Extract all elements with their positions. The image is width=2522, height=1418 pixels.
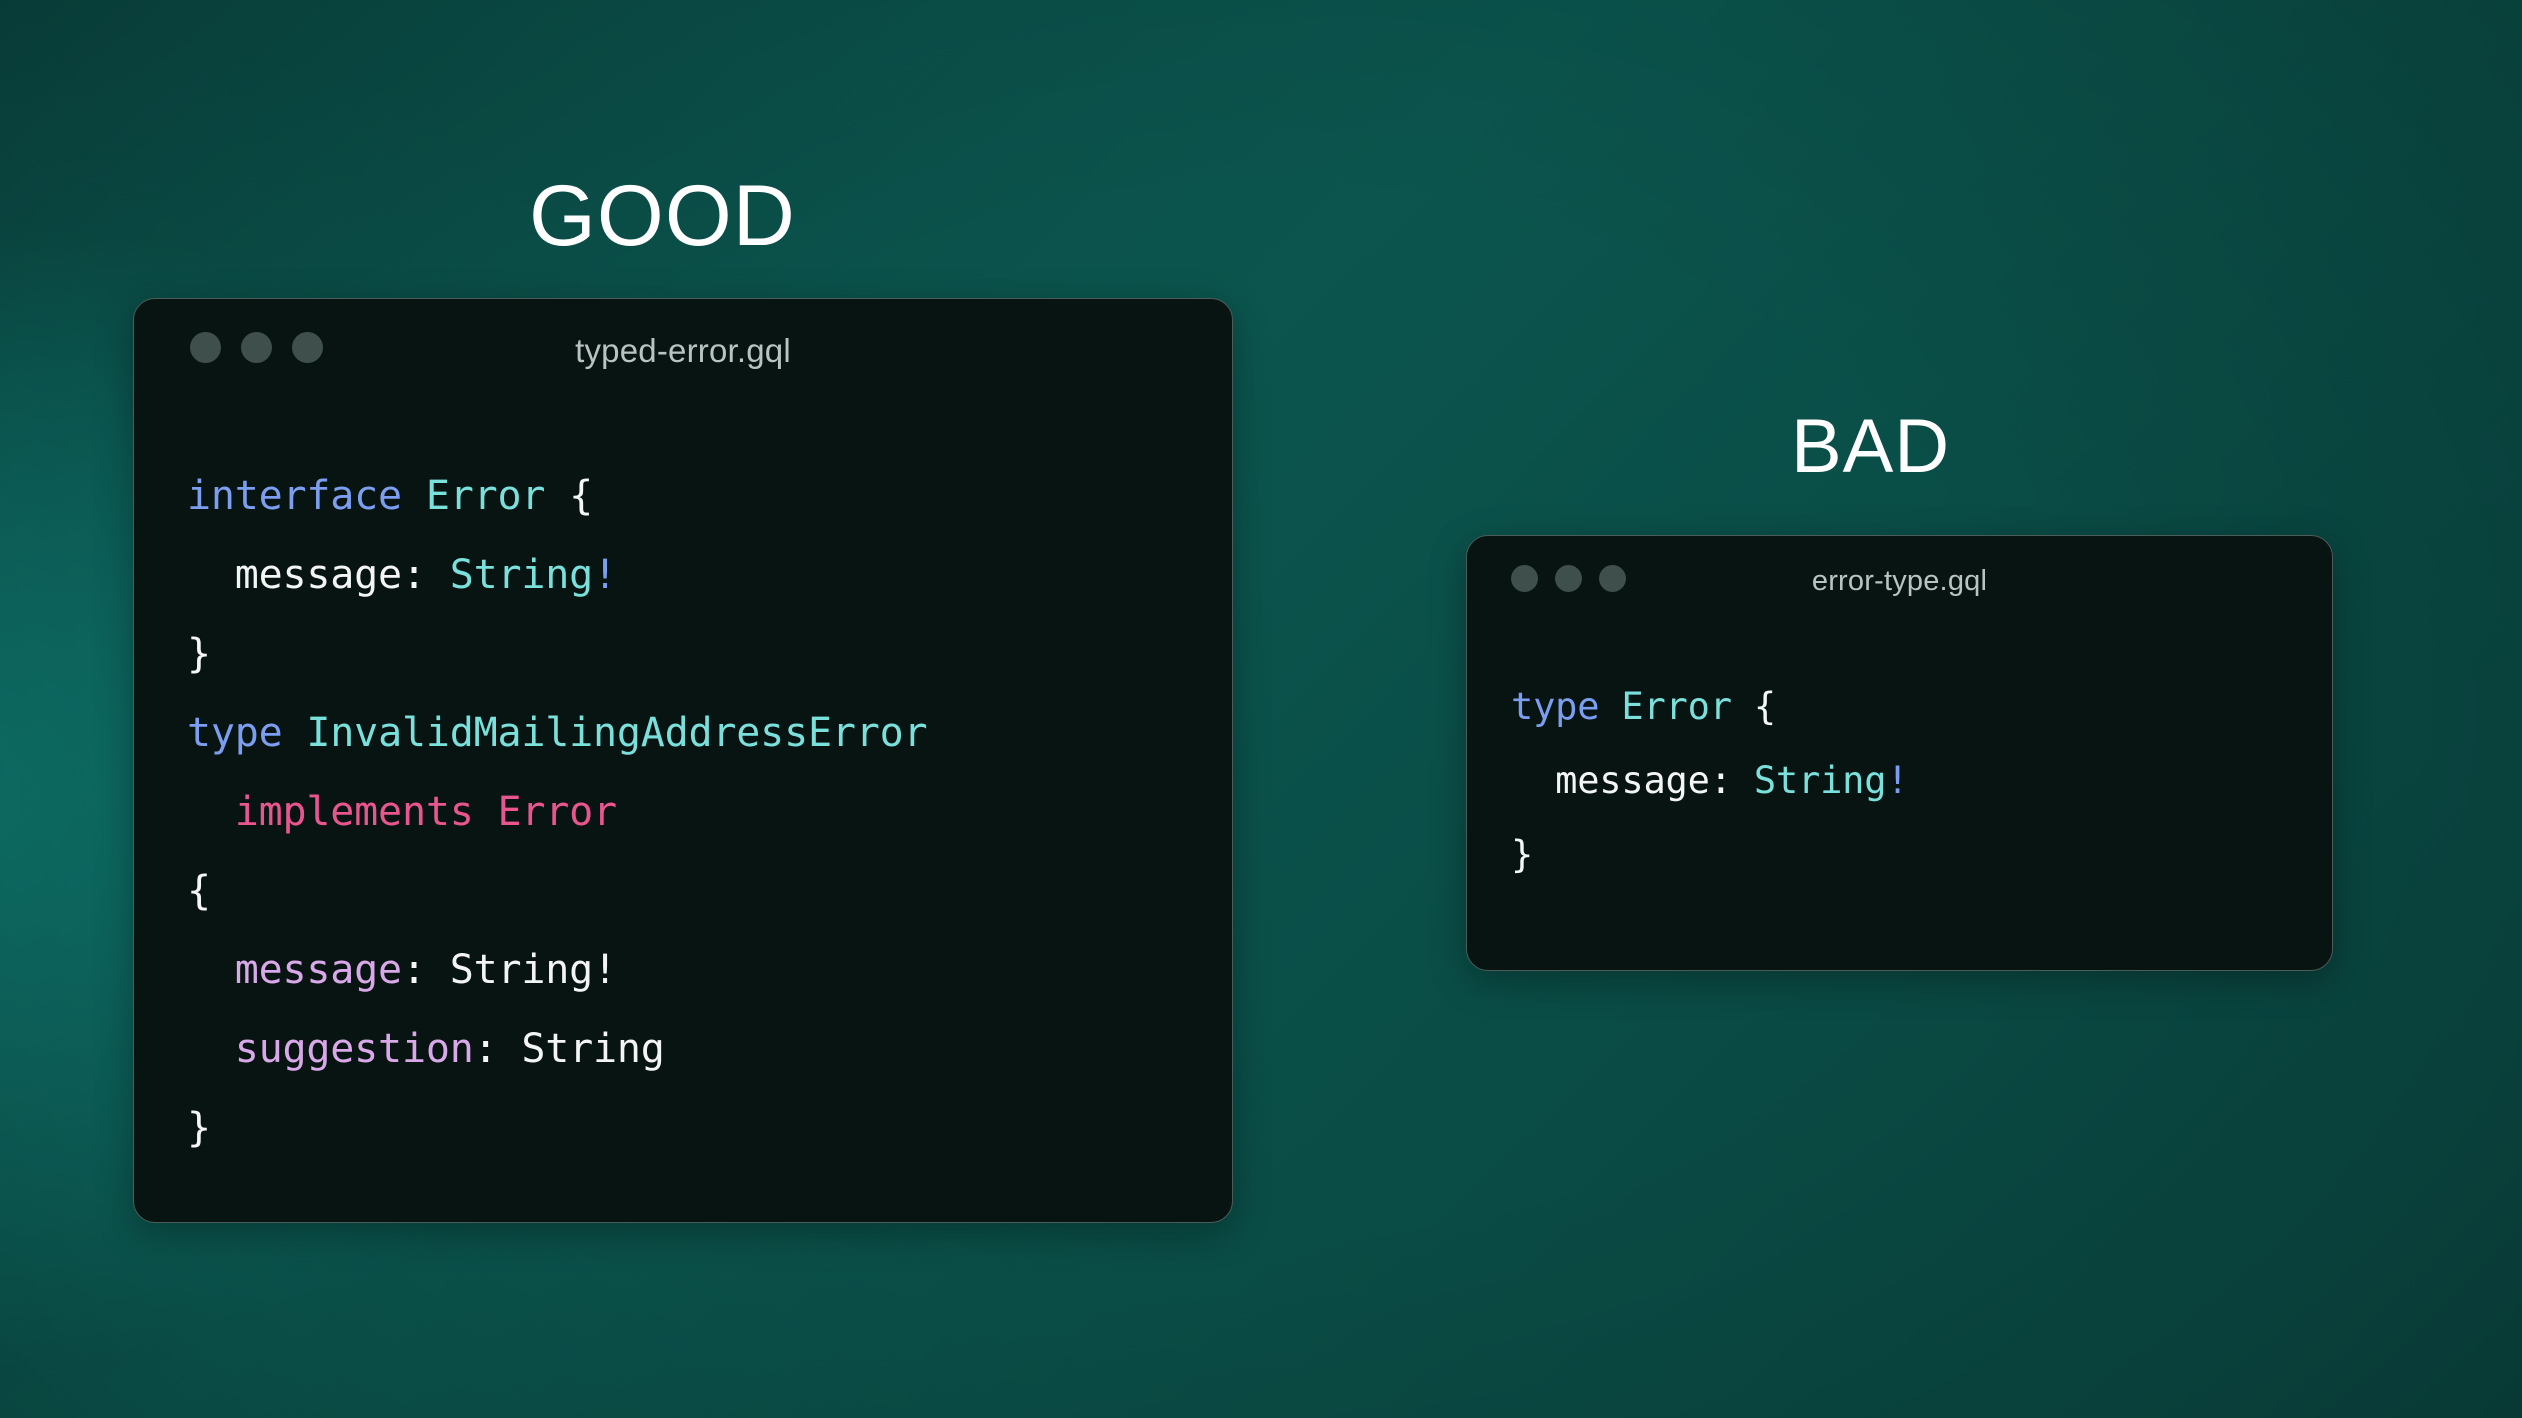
code-token-field: suggestion [235,1026,474,1072]
code-line: interface Error { [187,457,1232,536]
panel-heading-bad: BAD [1791,409,1950,485]
code-token-plain [187,552,235,598]
code-token-keyword: type [1511,685,1599,728]
maximize-dot-icon[interactable] [292,332,323,363]
code-token-plain [187,789,235,835]
code-token-impl: implements Error [235,789,617,835]
code-line: } [187,615,1232,694]
code-block-bad: type Error { message: String! } [1467,578,2332,892]
code-token-punct: { [1754,685,1776,728]
code-token-plain [187,1026,235,1072]
maximize-dot-icon[interactable] [1599,565,1626,592]
code-token-plain: message [1555,759,1710,802]
code-line: } [187,1089,1232,1168]
code-token-bang: ! [593,552,617,598]
code-line: message: String! [187,931,1232,1010]
code-window-bad: error-type.gql type Error { message: Str… [1466,535,2333,971]
code-token-plain [402,473,426,519]
code-token-typename: Error [1621,685,1731,728]
code-token-punct: : [474,1026,522,1072]
minimize-dot-icon[interactable] [241,332,272,363]
code-line: } [1511,818,2332,892]
code-token-typename: String [1754,759,1886,802]
code-token-typename: String [450,552,593,598]
window-titlebar-bad: error-type.gql [1467,536,2332,578]
code-token-plain [187,947,235,993]
close-dot-icon[interactable] [1511,565,1538,592]
code-line: type Error { [1511,670,2332,744]
code-token-punct: } [1511,833,1533,876]
code-token-typename: InvalidMailingAddressError [306,710,927,756]
code-token-field: message [235,947,402,993]
code-token-plain [1599,685,1621,728]
code-block-good: interface Error { message: String! } typ… [134,347,1232,1168]
code-token-keyword: interface [187,473,402,519]
code-line: implements Error [187,773,1232,852]
code-line: type InvalidMailingAddressError [187,694,1232,773]
traffic-lights-bad [1511,565,1626,592]
code-token-keyword: type [187,710,283,756]
code-line: message: String! [187,536,1232,615]
traffic-lights-good [190,332,323,363]
code-token-punct: } [187,631,211,677]
code-token-plain [1732,685,1754,728]
code-line: message: String! [1511,744,2332,818]
code-window-good: typed-error.gql interface Error { messag… [133,298,1233,1223]
close-dot-icon[interactable] [190,332,221,363]
code-token-punct: { [569,473,593,519]
code-token-punct: } [187,1105,211,1151]
code-token-plain: String [521,1026,664,1072]
code-token-punct: : [402,947,450,993]
code-token-punct: : [1710,759,1754,802]
code-token-punct: { [187,868,211,914]
code-token-plain: String! [450,947,617,993]
code-token-plain: message [235,552,402,598]
code-line: { [187,852,1232,931]
slide-canvas: GOOD typed-error.gql interface Error { m… [0,0,2522,1418]
code-token-plain [283,710,307,756]
minimize-dot-icon[interactable] [1555,565,1582,592]
code-token-punct: : [402,552,450,598]
code-token-plain [545,473,569,519]
panel-heading-good: GOOD [529,173,796,259]
code-line: suggestion: String [187,1010,1232,1089]
code-token-bang: ! [1886,759,1908,802]
window-titlebar-good: typed-error.gql [134,299,1232,347]
code-token-plain [1511,759,1555,802]
code-token-typename: Error [426,473,545,519]
